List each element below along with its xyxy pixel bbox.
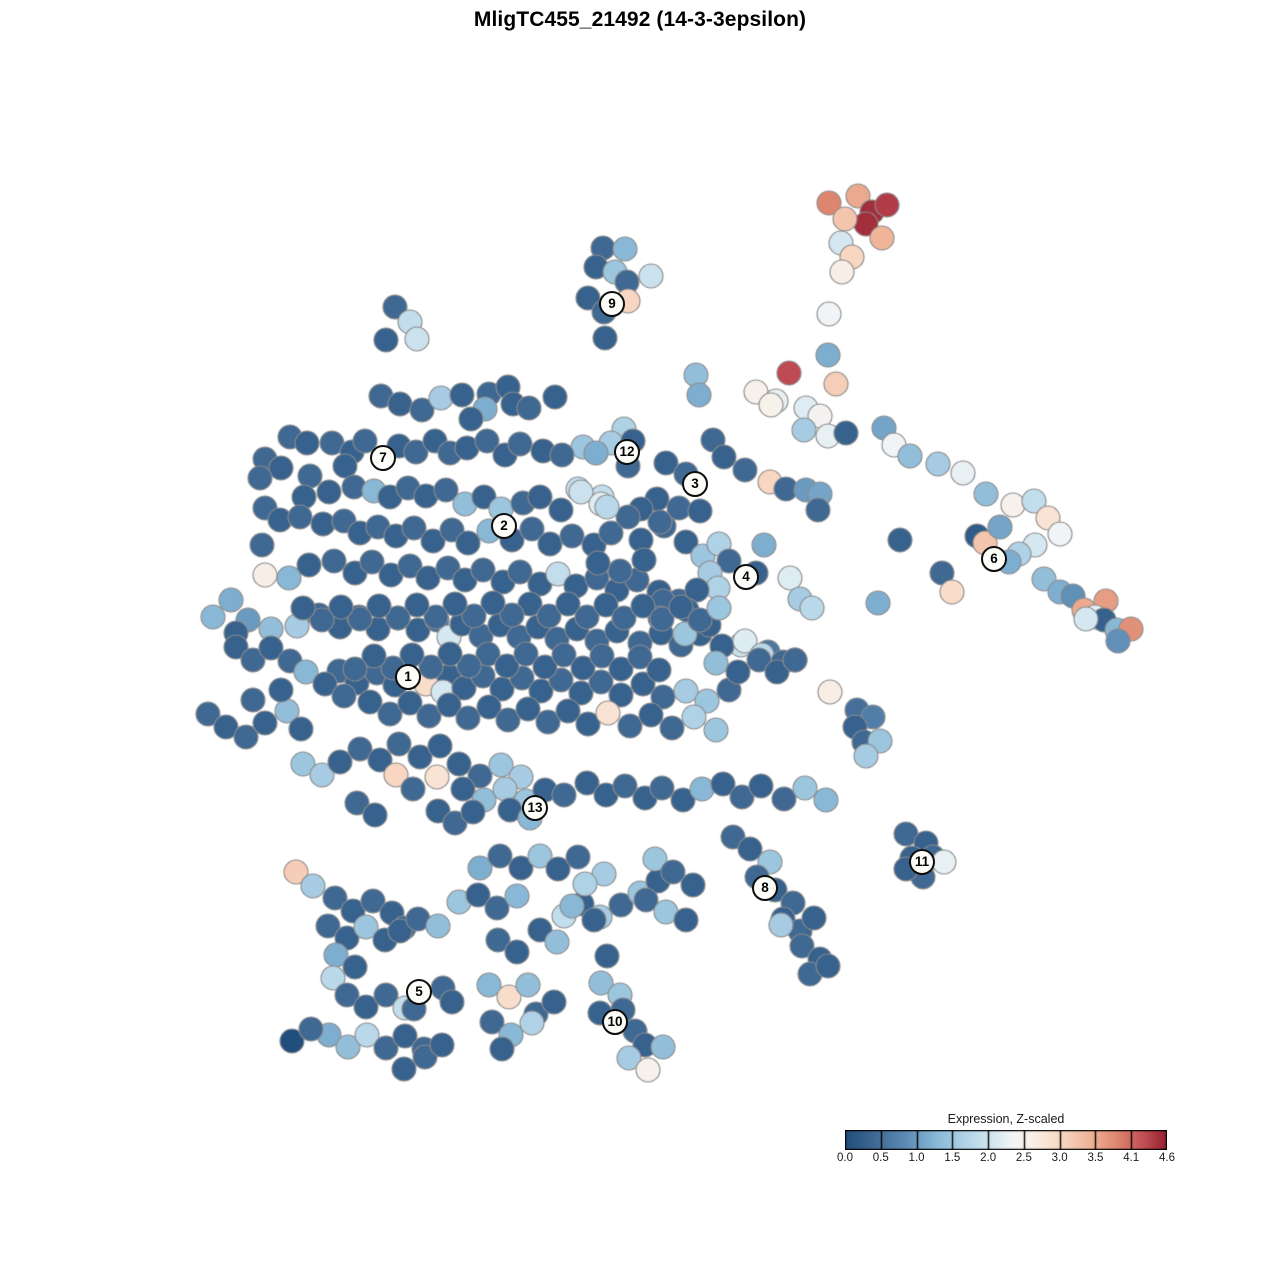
legend-tick-8: 4.1 [1123,1152,1139,1164]
cluster-label-3[interactable]: 3 [682,471,708,497]
legend-bar-wrap [845,1130,1167,1150]
legend-tick-3: 1.5 [944,1152,960,1164]
cluster-label-7[interactable]: 7 [370,445,396,471]
legend-tick-4: 2.0 [980,1152,996,1164]
cluster-label-9[interactable]: 9 [599,291,625,317]
legend-tick-1: 0.5 [873,1152,889,1164]
legend-tick-0: 0.0 [837,1152,853,1164]
legend-tick-7: 3.5 [1087,1152,1103,1164]
legend-tick-5: 2.5 [1016,1152,1032,1164]
cluster-label-12[interactable]: 12 [614,439,640,465]
cluster-label-10[interactable]: 10 [602,1009,628,1035]
cluster-annotation-layer: 12345678910111213 [0,0,1280,1280]
cluster-label-11[interactable]: 11 [909,849,935,875]
cluster-label-4[interactable]: 4 [733,564,759,590]
cluster-label-6[interactable]: 6 [981,546,1007,572]
colorbar-gradient [845,1130,1167,1150]
cluster-label-5[interactable]: 5 [406,979,432,1005]
figure-root: MligTC455_21492 (14-3-3epsilon) 12345678… [0,0,1280,1280]
legend-title: Expression, Z-scaled [845,1112,1167,1126]
legend-tick-9: 4.6 [1159,1152,1175,1164]
legend-tick-2: 1.0 [909,1152,925,1164]
legend-tick-6: 3.0 [1052,1152,1068,1164]
colorbar-legend: Expression, Z-scaled 0.00.51.01.52.02.53… [845,1112,1167,1168]
cluster-label-13[interactable]: 13 [522,795,548,821]
cluster-label-1[interactable]: 1 [395,664,421,690]
cluster-label-2[interactable]: 2 [491,513,517,539]
legend-tick-labels: 0.00.51.01.52.02.53.03.54.14.6 [845,1152,1167,1168]
cluster-label-8[interactable]: 8 [752,875,778,901]
